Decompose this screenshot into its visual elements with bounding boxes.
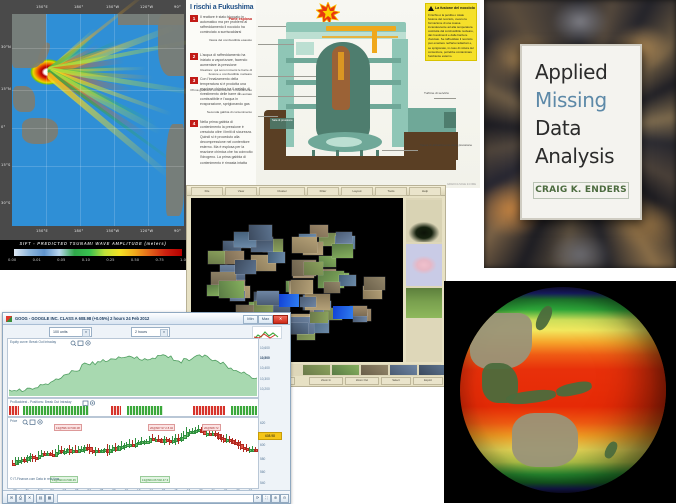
image-thumbnail[interactable]: [219, 281, 244, 297]
leader-line: [258, 76, 316, 77]
grid-icon[interactable]: ▦: [45, 494, 54, 503]
candle-wick: [121, 441, 122, 450]
candle-wick: [24, 457, 25, 463]
callout-secondary-containment: Seconda gabbia di contenimento: [190, 110, 252, 114]
candle-wick: [27, 455, 28, 463]
units-select-value: 100 units: [53, 330, 68, 334]
candle-wick: [255, 447, 256, 452]
price-pane-label: Price: [10, 419, 17, 423]
candle-wick: [192, 428, 193, 435]
candle-wick: [75, 445, 76, 452]
price-y-label: 580: [260, 457, 265, 461]
position-gap: [89, 406, 111, 415]
colorbar-tick: 0.10: [82, 258, 90, 262]
crane-hoist: [372, 31, 377, 53]
graticule-line: [46, 14, 47, 226]
candle-wick: [47, 451, 48, 455]
graticule-line: [114, 14, 115, 226]
print-icon[interactable]: ⎙: [16, 494, 25, 503]
fuel-pool: [296, 42, 314, 55]
position-bar: [9, 406, 19, 415]
filmstrip-thumbnail[interactable]: [332, 365, 359, 375]
bottom-toolbar[interactable]: ✉ ⎙ ✕ ▤ ▦ ⟳ ⛶ ⊕ ⊖: [3, 490, 290, 503]
infographic-title: I rischi a Fukushima: [190, 4, 253, 11]
fit-icon[interactable]: ⛶: [262, 494, 271, 503]
candle-wick: [149, 436, 150, 444]
image-thumbnail[interactable]: [291, 323, 308, 334]
zoom-in-icon[interactable]: ⊕: [271, 494, 280, 503]
continent-asia: [470, 313, 532, 369]
graticule-line: [12, 128, 184, 129]
candle-wick: [50, 452, 51, 456]
toolbar-tab-filter[interactable]: Filter: [307, 187, 339, 196]
bullet-text: Nella prima gabbia di contenimento la pr…: [200, 120, 254, 166]
price-y-label: 600: [260, 443, 265, 447]
map-y-tick: 15°N: [1, 87, 11, 91]
leader-line: [382, 150, 418, 151]
bullet-text: L'acqua di raffreddamento ha iniziato a …: [200, 53, 254, 68]
candle-wick: [118, 445, 119, 450]
fukushima-infographic-panel: I rischi a Fukushima 1 Il reattore è sta…: [186, 0, 480, 188]
candle-wick: [235, 439, 236, 444]
delete-icon[interactable]: ✕: [25, 494, 34, 503]
trade-tag: 13@604.06 502.47.3: [140, 476, 170, 483]
candle-wick: [181, 433, 182, 442]
candle-wick: [141, 437, 142, 445]
candle-wick: [138, 440, 139, 446]
equity-y-label: 10,600: [260, 346, 270, 350]
map-y-tick: 0°: [1, 125, 5, 129]
graticule-line: [148, 14, 149, 226]
graticule-line: [12, 90, 184, 91]
candle-wick: [183, 431, 184, 441]
map-y-tick: 30°S: [1, 201, 10, 205]
book-author: CRAIG K. ENDERS: [533, 182, 629, 199]
candle-wick: [246, 444, 247, 452]
callout-suppression-pool: Vasca di abbattimento della pressione: [420, 143, 476, 147]
candle-wick: [126, 442, 127, 447]
reactor-wall-right: [392, 39, 408, 147]
candle-wick: [107, 444, 108, 456]
colorbar-gradient: [14, 249, 182, 256]
candle-wick: [144, 440, 145, 445]
leader-line: [258, 26, 286, 27]
candle-wick: [109, 445, 110, 455]
browser-toolbar: File View Cluster Filter Layout Tools He…: [187, 186, 445, 196]
equity-curve-pane[interactable]: Equity curve: Break Out Intraday: [7, 338, 259, 398]
toolbar-tab-help[interactable]: Help: [409, 187, 441, 196]
mail-icon[interactable]: ✉: [7, 494, 16, 503]
map-x-tick: 120°W: [140, 229, 153, 233]
candle-wick: [172, 436, 173, 443]
globe-continents-layer: [460, 287, 666, 493]
candle-wick: [198, 425, 199, 431]
toolbar-tab-cluster[interactable]: Cluster: [259, 187, 305, 196]
candle-wick: [212, 431, 213, 436]
fuel-rod-stack: [338, 52, 344, 80]
chevron-down-icon[interactable]: ▾: [82, 329, 90, 337]
position-bar: [111, 406, 121, 415]
candle-wick: [12, 460, 13, 465]
candle-wick: [221, 434, 222, 442]
candle-wick: [232, 438, 233, 443]
image-thumbnail[interactable]: [332, 244, 353, 258]
candle-wick: [41, 450, 42, 456]
refresh-icon[interactable]: ⟳: [253, 494, 262, 503]
colorbar-tick: 0.25: [106, 258, 114, 262]
equity-y-label: 10,400: [260, 366, 270, 370]
candle-wick: [112, 445, 113, 453]
positions-pane-label: ProBacktest - Positions: Break Out Intra…: [10, 400, 71, 404]
continent-new-zealand: [602, 440, 619, 461]
candle-wick: [21, 457, 22, 464]
candle-wick: [124, 443, 125, 450]
candle-wick: [215, 430, 216, 437]
callout-service-tunnel: Turbine di servizio: [424, 91, 478, 95]
warning-triangle-icon: [428, 6, 434, 11]
colorbar-tick-labels: 0.00 0.01 0.05 0.10 0.25 0.50 0.75 1.0: [8, 258, 186, 262]
position-bars: [9, 406, 257, 415]
image-thumbnail[interactable]: [304, 262, 323, 274]
bullet-number: 2: [190, 53, 198, 60]
tunnel-opening: [444, 112, 456, 128]
image-thumbnail[interactable]: [235, 260, 256, 274]
position-bar: [127, 406, 163, 415]
colorbar-tick: 0.75: [155, 258, 163, 262]
window-title: GOOG - GOOGLE INC. CLASS A 608.98 (+0.05…: [15, 316, 149, 321]
map-x-tick: 90°: [174, 5, 181, 9]
toolbar-tab-view[interactable]: View: [225, 187, 257, 196]
minimize-button[interactable]: Min: [243, 315, 258, 324]
stock-chart-window[interactable]: GOOG - GOOGLE INC. CLASS A 608.98 (+0.05…: [2, 312, 291, 504]
candle-wick: [206, 431, 207, 437]
select-button[interactable]: Select: [381, 377, 411, 385]
leader-line: [258, 96, 316, 97]
graticule-line: [12, 166, 184, 167]
book-cover-panel: Applied Missing Data Analysis CRAIG K. E…: [484, 0, 676, 268]
chart-controls-row: 100 units ▾ 2 hours ▾: [3, 325, 290, 337]
reactor-diagram: La fusione del nocciolo Il rischio è la …: [256, 0, 480, 188]
map-x-tick: 150°E: [36, 5, 48, 9]
candle-wick: [164, 436, 165, 446]
candle-wick: [158, 435, 159, 441]
candle-wick: [15, 457, 16, 465]
tsunami-map-panel: 150°E 180° 150°W 120°W 90° 150°E 180° 15…: [0, 0, 186, 270]
image-thumbnail[interactable]: [310, 312, 328, 324]
book-title-line: Missing: [535, 88, 607, 112]
browser-side-panel: [406, 198, 442, 362]
candle-wick: [101, 449, 102, 453]
explosion-icon: [316, 2, 340, 24]
map-y-tick: 15°S: [1, 163, 10, 167]
map-x-tick: 150°E: [36, 229, 48, 233]
zoom-in-button[interactable]: Zoom In: [309, 377, 343, 385]
candle-wick: [69, 445, 70, 455]
candle-wick: [146, 439, 147, 443]
image-thumbnail[interactable]: [336, 232, 352, 242]
candle-wick: [87, 444, 88, 451]
candle-wick: [195, 427, 196, 434]
candle-wick: [52, 450, 53, 456]
book-title-line: Applied: [535, 60, 607, 84]
map-x-tick: 120°W: [140, 5, 153, 9]
position-bar: [193, 406, 225, 415]
book-title-line: Data: [535, 116, 581, 140]
equity-y-label: 10,300: [260, 377, 270, 381]
leader-line: [258, 44, 294, 45]
image-thumbnail[interactable]: [339, 275, 355, 286]
colorbar-tick: 0.01: [33, 258, 41, 262]
candlestick-plot: [10, 425, 256, 479]
overhead-crane: [326, 26, 396, 31]
chevron-down-icon[interactable]: ▾: [160, 329, 168, 337]
image-thumbnail[interactable]: [300, 297, 316, 308]
filmstrip-thumbnail[interactable]: [390, 365, 417, 375]
candle-wick: [169, 438, 170, 445]
app-icon: [6, 316, 12, 322]
map-x-tick: 90°: [174, 229, 181, 233]
candle-wick: [243, 445, 244, 453]
equity-y-label: 10,200: [260, 387, 270, 391]
core-meltdown-warning-box: La fusione del nocciolo Il rischio è la …: [425, 3, 477, 61]
colorbar-tick: 0.50: [131, 258, 139, 262]
candle-wick: [178, 434, 179, 444]
horizontal-scrollbar[interactable]: [57, 494, 255, 503]
candle-wick: [155, 437, 156, 441]
candle-wick: [152, 434, 153, 441]
candle-wick: [72, 447, 73, 454]
price-y-label: 540: [260, 481, 265, 485]
map-y-tick: 30°N: [1, 45, 11, 49]
warning-title: La fusione del nocciolo: [435, 6, 475, 10]
graticule-line: [80, 14, 81, 226]
colorbar-tick: 0.05: [57, 258, 65, 262]
candle-wick: [223, 435, 224, 444]
position-gap: [163, 406, 193, 415]
preview-scatter-dark[interactable]: [406, 200, 442, 242]
chart-footer-note: © IT-Finance.com Data in real time: [10, 477, 59, 481]
graticule-line: [12, 48, 184, 49]
candle-wick: [67, 448, 68, 453]
positions-pane[interactable]: ProBacktest - Positions: Break Out Intra…: [7, 398, 259, 417]
trade-tag: 13@596.33 500.08: [54, 424, 82, 431]
filmstrip-thumbnail[interactable]: [419, 365, 446, 375]
candle-wick: [55, 449, 56, 456]
preview-field-photo[interactable]: [406, 288, 442, 318]
infographic-source: GRAFICA SOLE 24 ORE: [447, 183, 476, 186]
candle-wick: [226, 434, 227, 443]
map-x-tick: 150°W: [106, 5, 119, 9]
continent-japan: [533, 304, 555, 333]
candle-wick: [166, 437, 167, 442]
candle-wick: [240, 441, 241, 450]
interval-select-value: 2 hours: [135, 330, 147, 334]
candle-wick: [95, 447, 96, 456]
candle-wick: [44, 451, 45, 456]
candle-wick: [30, 453, 31, 462]
candle-wick: [135, 438, 136, 447]
candle-wick: [81, 446, 82, 450]
colorbar-tick: 0.00: [8, 258, 16, 262]
zoom-out-button[interactable]: Zoom Out: [345, 377, 379, 385]
export-button[interactable]: Export: [413, 377, 443, 385]
landmass-australia: [22, 118, 58, 144]
zoom-out-icon[interactable]: ⊖: [280, 494, 289, 503]
torus-core: [326, 137, 362, 147]
equity-y-label-highlight: 10,500: [260, 356, 270, 360]
candle-wick: [89, 444, 90, 454]
bullet-number: 3: [190, 77, 198, 84]
price-pane[interactable]: Price 13@596.33 500.08 26@607.97 2 8.02 …: [7, 417, 259, 489]
crane-rail: [322, 36, 398, 38]
image-thumbnail[interactable]: [324, 282, 340, 293]
candle-wick: [32, 454, 33, 462]
book-title-line: Analysis: [535, 144, 614, 168]
book-cover-front: Applied Missing Data Analysis CRAIG K. E…: [520, 44, 642, 220]
callout-spent-fuel-pool: Vasca del combustibile esausto: [190, 38, 252, 42]
candle-wick: [238, 440, 239, 449]
image-thumbnail[interactable]: [291, 280, 313, 294]
image-thumbnail[interactable]: [249, 225, 272, 240]
candle-wick: [189, 429, 190, 436]
save-icon[interactable]: ▤: [36, 494, 45, 503]
continent-new-guinea: [555, 379, 593, 398]
candle-wick: [64, 448, 65, 456]
filmstrip-thumbnail[interactable]: [361, 365, 388, 375]
candle-wick: [92, 447, 93, 454]
candle-wick: [84, 445, 85, 454]
leader-line: [258, 116, 278, 117]
maximize-button[interactable]: Max: [258, 315, 273, 324]
window-titlebar[interactable]: GOOG - GOOGLE INC. CLASS A 608.98 (+0.05…: [3, 313, 290, 325]
image-thumbnail-highlighted[interactable]: [333, 306, 353, 319]
callout-reactor: Reattore: qui sono immersi le barre di f…: [190, 68, 252, 76]
candle-wick: [61, 446, 62, 454]
callout-primary-containment: Prima gabbia di contenimento: il rivesti…: [190, 88, 252, 96]
interval-select[interactable]: 2 hours ▾: [131, 327, 170, 337]
warning-text: Il rischio è la perdita o totale fusione…: [428, 13, 474, 58]
candle-wick: [252, 446, 253, 452]
map-x-tick: 180°: [74, 229, 83, 233]
sst-globe-panel: [444, 281, 676, 503]
image-thumbnail[interactable]: [292, 237, 317, 253]
units-select[interactable]: 100 units ▾: [49, 327, 92, 337]
toolbar-tab-file[interactable]: File: [191, 187, 223, 196]
current-price-tag: 608.98: [258, 432, 282, 440]
trade-tag: 26@607.97 2 8.02: [148, 424, 175, 431]
candle-wick: [18, 457, 19, 464]
candle-wick: [104, 448, 105, 454]
price-y-label: 560: [260, 470, 265, 474]
close-button[interactable]: ✕: [273, 315, 288, 324]
candle-wick: [175, 434, 176, 445]
preview-scatter-pink[interactable]: [406, 244, 442, 286]
image-thumbnail[interactable]: [364, 277, 385, 291]
bullet-number: 4: [190, 120, 198, 127]
price-y-label: 620: [260, 421, 265, 425]
candle-wick: [218, 432, 219, 439]
toolbar-tab-tools[interactable]: Tools: [375, 187, 407, 196]
callout-exploded-part: Parte esplosa: [190, 17, 252, 22]
equity-pane-label: Equity curve: Break Out Intraday: [10, 340, 56, 344]
candle-wick: [38, 451, 39, 459]
tsunami-map-area: 150°E 180° 150°W 120°W 90° 150°E 180° 15…: [0, 0, 186, 240]
candle-wick: [98, 448, 99, 453]
leader-line: [434, 98, 456, 99]
candle-wick: [161, 438, 162, 442]
colorbar-title: SIFT - PREDICTED TSUNAMI WAVE AMPLITUDE …: [0, 241, 186, 246]
toolbar-tab-layout[interactable]: Layout: [341, 187, 373, 196]
continent-australia: [512, 413, 578, 467]
map-x-tick: 150°W: [106, 229, 119, 233]
candle-wick: [115, 443, 116, 452]
callout-pressure-chamber: Sala di pressione: [272, 119, 293, 123]
candle-wick: [132, 440, 133, 448]
landmass-alaska: [118, 14, 184, 25]
trade-tag: 26@608.72: [202, 424, 221, 431]
image-thumbnail-highlighted[interactable]: [279, 294, 299, 307]
candle-wick: [78, 446, 79, 452]
image-thumbnail[interactable]: [268, 252, 285, 263]
candle-wick: [229, 436, 230, 442]
landmass-south-america: [166, 124, 184, 216]
position-bar: [23, 406, 89, 415]
candle-wick: [186, 427, 187, 435]
map-x-tick: 180°: [74, 5, 83, 9]
candle-wick: [58, 445, 59, 455]
candle-wick: [249, 447, 250, 453]
image-thumbnail[interactable]: [257, 291, 279, 306]
candle-wick: [35, 455, 36, 462]
position-bar: [231, 406, 257, 415]
equity-curve-plot: [9, 346, 257, 396]
candle-wick: [129, 439, 130, 447]
tsunami-colorbar: SIFT - PREDICTED TSUNAMI WAVE AMPLITUDE …: [0, 240, 186, 270]
filmstrip-thumbnail[interactable]: [303, 365, 330, 375]
